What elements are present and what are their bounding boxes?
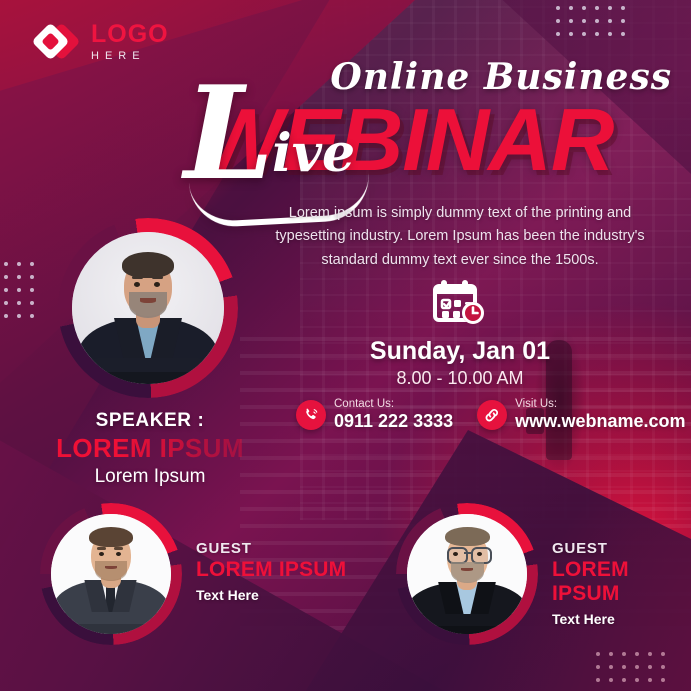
event-time: 8.00 - 10.00 AM [340, 368, 580, 389]
guest-one-info: GUEST LOREM IPSUM Text Here [196, 540, 346, 603]
guest-one-subtitle: Text Here [196, 587, 346, 603]
guest-one-name: LOREM IPSUM [196, 558, 346, 582]
dot-grid-left [4, 262, 34, 318]
webinar-poster: LOGO HERE Online Business WEBINAR L ive … [0, 0, 691, 691]
phone-icon [296, 400, 326, 430]
contact-phone-text: Contact Us: 0911 222 3333 [334, 398, 453, 431]
contact-phone[interactable]: Contact Us: 0911 222 3333 [296, 398, 453, 431]
contact-website-text: Visit Us: www.webname.com [515, 398, 685, 431]
calendar-clock-icon [432, 277, 488, 329]
contact-phone-value: 0911 222 3333 [334, 411, 453, 432]
avatar [407, 514, 527, 634]
event-date: Sunday, Jan 01 [340, 337, 580, 366]
dot-grid-bottom-right [596, 652, 665, 691]
contact-row: Contact Us: 0911 222 3333 Visit Us: www.… [296, 398, 686, 431]
avatar [72, 232, 224, 384]
diamond-logo-icon [34, 20, 82, 64]
speaker-name: LOREM IPSUM [30, 433, 270, 464]
headline-live-rest: ive [272, 128, 355, 180]
headline: Online Business WEBINAR L ive [180, 52, 680, 192]
guest-two-subtitle: Text Here [552, 611, 691, 627]
contact-phone-label: Contact Us: [334, 398, 453, 411]
logo[interactable]: LOGO HERE [34, 20, 169, 64]
description-text: Lorem ipsum is simply dummy text of the … [258, 202, 662, 272]
guest-two-name: LOREM IPSUM [552, 558, 691, 606]
speaker-photo-frame [58, 218, 238, 398]
contact-website-label: Visit Us: [515, 398, 685, 411]
avatar [51, 514, 171, 634]
guest-one-role: GUEST [196, 540, 346, 557]
guest-two-photo-frame [396, 503, 538, 645]
event-date-block: Sunday, Jan 01 8.00 - 10.00 AM [340, 277, 580, 389]
contact-website-value: www.webname.com [515, 411, 685, 432]
speaker-subtitle: Lorem Ipsum [30, 466, 270, 488]
contact-website[interactable]: Visit Us: www.webname.com [477, 398, 685, 431]
logo-sub-text: HERE [91, 51, 169, 62]
speaker-title: SPEAKER : [30, 410, 270, 432]
speaker-info: SPEAKER : LOREM IPSUM Lorem Ipsum [30, 410, 270, 488]
guest-one-photo-frame [40, 503, 182, 645]
logo-main-text: LOGO [91, 22, 169, 47]
guest-two-info: GUEST LOREM IPSUM Text Here [552, 540, 691, 627]
link-icon [477, 400, 507, 430]
dot-grid-top-right [556, 6, 625, 36]
logo-text: LOGO HERE [91, 22, 169, 62]
guest-two-role: GUEST [552, 540, 691, 557]
